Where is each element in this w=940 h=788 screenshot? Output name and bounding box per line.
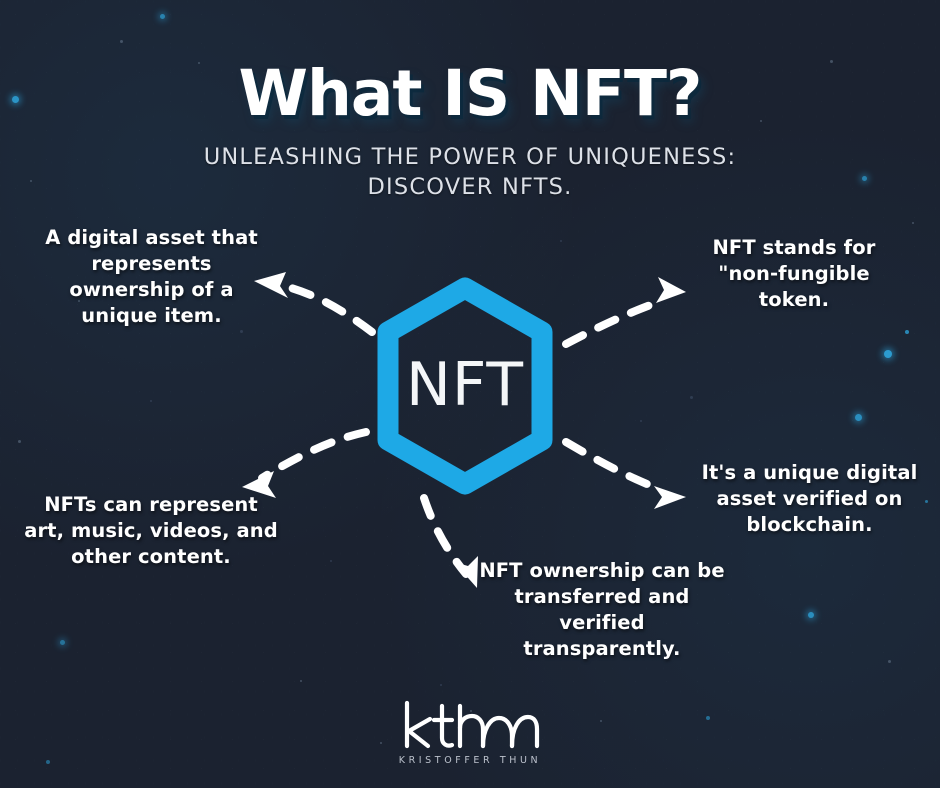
kthn-wordmark-icon: [400, 700, 540, 750]
arrowhead-bottom-center: [454, 556, 478, 588]
subtitle-line-1: UNLEASHING THE POWER OF UNIQUENESS:: [204, 144, 737, 170]
subtitle-line-2: DISCOVER NFTS.: [367, 174, 572, 200]
nft-logo-label: NFT: [368, 278, 562, 494]
callout-bottom-center: NFT ownership can be transferred and ver…: [478, 558, 726, 662]
brand-logo: KRISTOFFER THUN: [0, 700, 940, 766]
arrow-path-bottom-right: [566, 442, 662, 490]
infographic-canvas: What IS NFT? UNLEASHING THE POWER OF UNI…: [0, 0, 940, 788]
page-subtitle: UNLEASHING THE POWER OF UNIQUENESS: DISC…: [0, 142, 940, 203]
arrow-path-bottom-center: [424, 498, 466, 574]
brand-name: KRISTOFFER THUN: [0, 755, 940, 766]
nft-logo: NFT: [368, 278, 562, 494]
arrow-path-bottom-left: [262, 432, 366, 478]
callout-bottom-right: It's a unique digital asset verified on …: [688, 460, 931, 538]
callout-bottom-left: NFTs can represent art, music, videos, a…: [22, 492, 280, 570]
arrow-path-top-right: [566, 300, 664, 344]
arrowhead-top-left: [254, 272, 288, 298]
callout-top-left: A digital asset that represents ownershi…: [44, 225, 259, 329]
page-title: What IS NFT?: [0, 62, 940, 125]
arrowhead-top-right: [656, 277, 686, 303]
arrowhead-bottom-right: [654, 486, 686, 509]
arrow-path-top-left: [276, 284, 372, 332]
callout-top-right: NFT stands for "non-fungible token.: [688, 235, 900, 313]
header-block: What IS NFT? UNLEASHING THE POWER OF UNI…: [0, 62, 940, 203]
